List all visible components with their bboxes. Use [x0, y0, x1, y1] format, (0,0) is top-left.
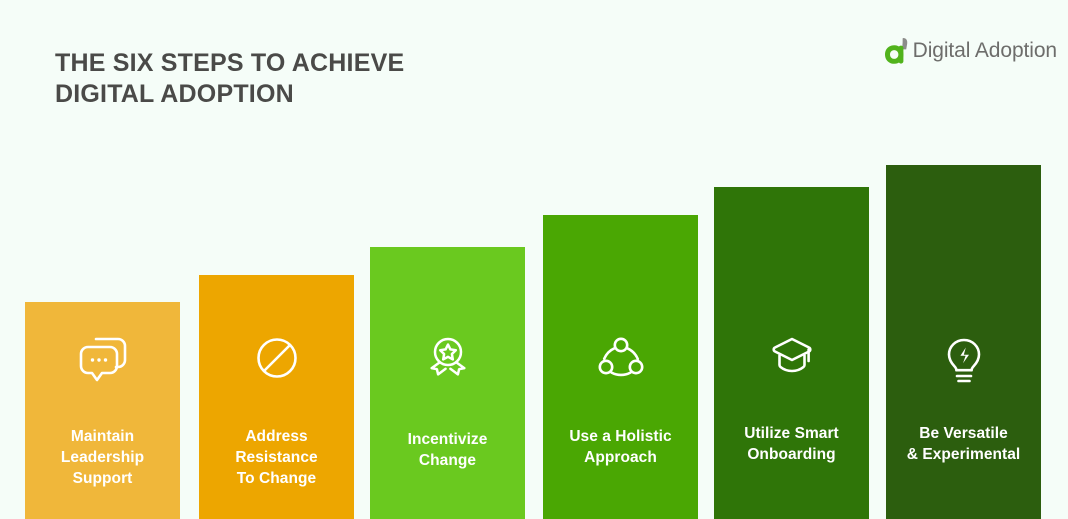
bar-label-line: To Change: [237, 470, 316, 487]
bar-step-6[interactable]: Be Versatile & Experimental: [886, 165, 1041, 519]
bar-label-line: Utilize Smart: [744, 425, 839, 442]
bar-label-line: Onboarding: [747, 446, 835, 463]
bar-step-3[interactable]: Incentivize Change: [370, 247, 525, 519]
bar-label-step-1: Maintain Leadership Support: [25, 426, 180, 489]
network-nodes-icon: [543, 334, 698, 382]
bar-label-step-4: Use a Holistic Approach: [543, 426, 698, 468]
bar-label-line: Resistance: [235, 449, 317, 466]
bar-label-step-2: Address Resistance To Change: [199, 426, 354, 489]
bar-label-line: Incentivize: [408, 431, 488, 448]
bar-label-line: Use a Holistic: [569, 428, 671, 445]
steps-bar-chart: Maintain Leadership Support Address Resi…: [0, 0, 1068, 519]
bar-step-2[interactable]: Address Resistance To Change: [199, 275, 354, 519]
bar-label-line: Change: [419, 452, 476, 469]
bar-label-line: Be Versatile: [919, 425, 1008, 442]
bar-label-step-6: Be Versatile & Experimental: [886, 423, 1041, 465]
lightbulb-bolt-icon: [886, 336, 1041, 386]
prohibited-icon: [199, 334, 354, 382]
graduation-cap-icon: [714, 334, 869, 380]
bar-label-line: Maintain: [71, 428, 134, 445]
bar-label-line: Approach: [584, 449, 657, 466]
bar-label-line: & Experimental: [907, 446, 1021, 463]
bar-step-1[interactable]: Maintain Leadership Support: [25, 302, 180, 519]
bar-label-line: Leadership: [61, 449, 144, 466]
bar-step-4[interactable]: Use a Holistic Approach: [543, 215, 698, 519]
infographic-canvas: The Six Steps To Achieve Digital Adoptio…: [0, 0, 1068, 519]
bar-label-line: Support: [73, 470, 133, 487]
bar-label-step-5: Utilize Smart Onboarding: [714, 423, 869, 465]
award-ribbon-icon: [370, 334, 525, 384]
bar-label-step-3: Incentivize Change: [370, 429, 525, 471]
bar-step-5[interactable]: Utilize Smart Onboarding: [714, 187, 869, 519]
chat-bubbles-icon: [25, 334, 180, 384]
bar-label-line: Address: [245, 428, 307, 445]
